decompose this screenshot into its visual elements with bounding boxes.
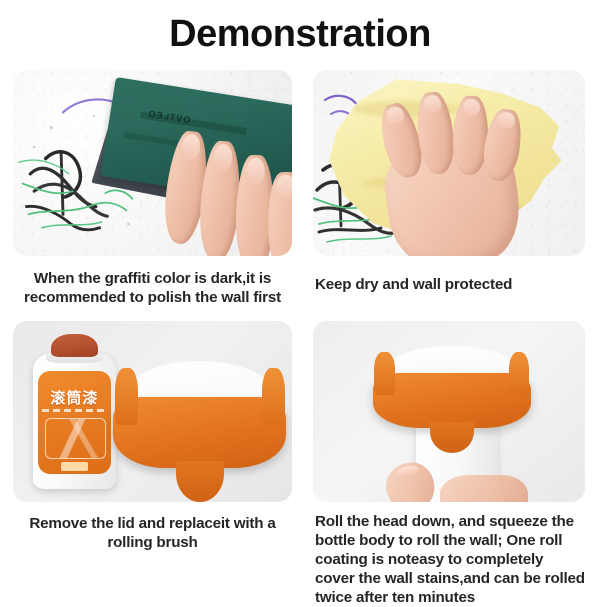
- roller-arm-right: [262, 368, 284, 425]
- photo-replace-lid: 滚筒漆: [13, 321, 292, 502]
- roller-brush-head: [113, 361, 286, 480]
- caption-replace-lid: Remove the lid and replaceit with a roll…: [15, 514, 290, 552]
- fingernail: [497, 112, 516, 130]
- fingernail: [180, 133, 201, 160]
- roller-housing: [373, 373, 531, 427]
- fingernail: [463, 98, 480, 116]
- label-subtext-lines: [42, 409, 107, 412]
- panel-keep-dry: Keep dry and wall protected: [300, 70, 600, 307]
- fingernail: [423, 95, 442, 115]
- fingernail: [277, 175, 292, 199]
- hand-holding-bottle: [386, 459, 527, 502]
- roller-arm-left: [374, 352, 395, 395]
- label-title: 滚筒漆: [38, 387, 112, 408]
- panel-grid: OVTLEO: [0, 70, 600, 607]
- panel-replace-lid: 滚筒漆 Remove the lid and re: [0, 321, 300, 607]
- fingernail: [213, 144, 233, 172]
- fingernail: [247, 158, 266, 184]
- hand-holding-sponge: [164, 103, 292, 256]
- fingernail: [385, 105, 405, 125]
- photo-keep-dry: [313, 70, 585, 256]
- panel-row-2: 滚筒漆 Remove the lid and re: [0, 321, 600, 607]
- page-title: Demonstration: [0, 8, 600, 60]
- label-info-bar: [61, 462, 88, 470]
- caption-polish-wall: When the graffiti color is dark,it is re…: [15, 269, 290, 307]
- roller-brush-head: [373, 346, 531, 437]
- panel-roll-wall: Roll the head down, and squeeze the bott…: [300, 321, 600, 607]
- label-illustration: [45, 418, 106, 459]
- photo-roll-wall: [313, 321, 585, 502]
- thumb: [382, 458, 440, 502]
- roller-arm-right: [509, 352, 530, 395]
- photo-polish-wall: OVTLEO: [13, 70, 292, 256]
- paint-bottle: 滚筒漆: [33, 334, 117, 490]
- hand-wiping-wall: [378, 92, 530, 256]
- thumbnail: [394, 464, 419, 479]
- demonstration-page: Demonstration: [0, 0, 600, 600]
- roller-arm-left: [115, 368, 137, 425]
- bottle-cap: [51, 334, 98, 357]
- panel-polish-wall: OVTLEO: [0, 70, 300, 307]
- panel-row-1: OVTLEO: [0, 70, 600, 307]
- roller-housing: [113, 397, 286, 469]
- caption-keep-dry: Keep dry and wall protected: [315, 275, 585, 294]
- caption-roll-wall: Roll the head down, and squeeze the bott…: [315, 512, 585, 607]
- knuckles: [440, 475, 528, 502]
- bottle-label: 滚筒漆: [38, 371, 112, 474]
